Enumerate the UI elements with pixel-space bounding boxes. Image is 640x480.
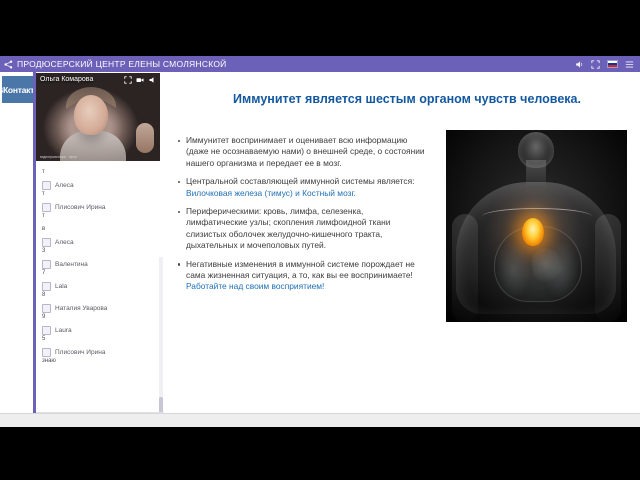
chat-message-author[interactable]: Алеса <box>55 239 74 246</box>
avatar[interactable] <box>42 260 51 269</box>
chat-message: Наталия Уварова9 <box>38 303 162 325</box>
torso-illustration <box>446 130 627 322</box>
chat-message: Алеса3 <box>38 237 162 259</box>
chat-message-text: знаю <box>38 357 162 366</box>
chat-message-author[interactable]: Наталия Уварова <box>55 305 107 312</box>
chat-message-header: Плисович Ирина <box>38 203 162 212</box>
chat-message-author[interactable]: Laura <box>55 327 72 334</box>
avatar[interactable] <box>42 238 51 247</box>
slide-bullet-text: Иммунитет воспринимает и оценивает всю и… <box>186 135 425 168</box>
speaker-name: Ольга Комарова <box>40 76 93 83</box>
chat-message-text: т <box>38 190 162 199</box>
avatar[interactable] <box>42 203 51 212</box>
video-tile-controls <box>124 76 156 84</box>
hamburger-menu-icon[interactable] <box>625 60 634 69</box>
avatar[interactable] <box>42 348 51 357</box>
chat-message: Валентина7 <box>38 259 162 281</box>
torso-head <box>518 132 554 168</box>
chat-message-header: Lala <box>38 282 162 291</box>
slide-title: Иммунитет является шестым органом чувств… <box>212 91 602 108</box>
slide-bullet-text: Работайте над своим восприятием! <box>186 281 324 291</box>
slide-bullet: Иммунитет воспринимает и оценивает всю и… <box>176 135 426 169</box>
presentation-slide: Иммунитет является шестым органом чувств… <box>164 72 640 413</box>
volume-icon[interactable] <box>575 60 584 69</box>
slide-bullet: Периферическими: кровь, лимфа, селезенка… <box>176 206 426 252</box>
thymus-anatomy-image <box>446 130 627 322</box>
room-title: ПРОДЮСЕРСКИЙ ЦЕНТР ЕЛЕНЫ СМОЛЯНСКОЙ <box>17 59 227 69</box>
slide-bullet-list: Иммунитет воспринимает и оценивает всю и… <box>176 135 426 300</box>
russian-flag-icon[interactable] <box>607 60 618 68</box>
expand-icon[interactable] <box>124 76 132 84</box>
avatar[interactable] <box>42 282 51 291</box>
chat-message-author[interactable]: Lala <box>55 283 67 290</box>
webinar-app: ПРОДЮСЕРСКИЙ ЦЕНТР ЕЛЕНЫ СМОЛЯНСКОЙ <box>0 56 640 427</box>
chat-message-text: 5 <box>38 335 162 344</box>
webcam-person-hand <box>136 123 154 153</box>
chat-scrollbar[interactable] <box>159 257 163 412</box>
avatar[interactable] <box>42 326 51 335</box>
chat-panel: Ольга Комарова видеотрансляция · эфир <box>36 72 164 427</box>
speaker-icon[interactable] <box>148 76 156 84</box>
chat-message-header: Плисович Ирина <box>38 348 162 357</box>
top-bar: ПРОДЮСЕРСКИЙ ЦЕНТР ЕЛЕНЫ СМОЛЯНСКОЙ <box>0 56 640 72</box>
avatar[interactable] <box>42 304 51 313</box>
fullscreen-icon[interactable] <box>591 60 600 69</box>
chat-message: т <box>38 167 162 180</box>
avatar[interactable] <box>42 181 51 190</box>
chat-message: Алесат <box>38 180 162 202</box>
chat-message-text: 8 <box>38 291 162 300</box>
chat-message-text: т <box>38 168 162 177</box>
chat-message-text: т <box>38 212 162 221</box>
chat-message-text: 7 <box>38 269 162 278</box>
share-icon[interactable] <box>4 60 13 69</box>
letterbox-top <box>0 0 640 56</box>
chat-message-author[interactable]: Плисович Ирина <box>55 204 105 211</box>
chat-message-header: Алеса <box>38 181 162 190</box>
thymus-gland-highlight <box>522 218 544 246</box>
app-bottom-strip <box>0 413 640 427</box>
top-bar-controls <box>575 60 640 69</box>
chat-message: Плисович Иринат <box>38 202 162 224</box>
chat-message-header: Laura <box>38 326 162 335</box>
chat-message-header: Наталия Уварова <box>38 304 162 313</box>
torso-left-lung <box>496 242 530 298</box>
chat-message: Плисович Ириназнаю <box>38 347 162 369</box>
slide-bullet-text: Негативные изменения в иммунной системе … <box>186 259 415 280</box>
chat-message-header: Валентина <box>38 260 162 269</box>
chat-message-list[interactable]: тАлесатПлисович ИринатвАлеса3Валентина7L… <box>36 161 164 412</box>
chat-message-text: 3 <box>38 247 162 256</box>
chat-message-header: Алеса <box>38 238 162 247</box>
webcam-caption: видеотрансляция · эфир <box>40 155 156 159</box>
chat-message: в <box>38 224 162 237</box>
letterbox-bottom <box>0 427 640 480</box>
slide-bullet-text: Вилочковая железа (тимус) и Костный мозг… <box>186 188 356 198</box>
camera-icon[interactable] <box>136 76 144 84</box>
slide-bullet-text: Периферическими: кровь, лимфа, селезенка… <box>186 206 390 250</box>
video-tile[interactable]: Ольга Комарова видеотрансляция · эфир <box>36 73 160 161</box>
left-rail: ВКонтакте <box>0 72 35 427</box>
vkontakte-logo[interactable]: ВКонтакте <box>2 76 33 103</box>
video-player: ПРОДЮСЕРСКИЙ ЦЕНТР ЕЛЕНЫ СМОЛЯНСКОЙ <box>0 0 640 480</box>
chat-scrollbar-thumb[interactable] <box>159 397 163 412</box>
chat-message-text: в <box>38 225 162 234</box>
webcam-person-face <box>74 95 108 135</box>
chat-message: Laura5 <box>38 325 162 347</box>
slide-bullet: Негативные изменения в иммунной системе … <box>176 259 426 293</box>
chat-message-author[interactable]: Плисович Ирина <box>55 349 105 356</box>
chat-message-author[interactable]: Алеса <box>55 182 74 189</box>
chat-message-text: 9 <box>38 313 162 322</box>
top-bar-left: ПРОДЮСЕРСКИЙ ЦЕНТР ЕЛЕНЫ СМОЛЯНСКОЙ <box>0 59 575 69</box>
chat-message-author[interactable]: Валентина <box>55 261 88 268</box>
slide-bullet: Центральной составляющей иммунной систем… <box>176 176 426 199</box>
slide-bullet-text: Центральной составляющей иммунной систем… <box>186 176 414 186</box>
chat-message: Lala8 <box>38 281 162 303</box>
